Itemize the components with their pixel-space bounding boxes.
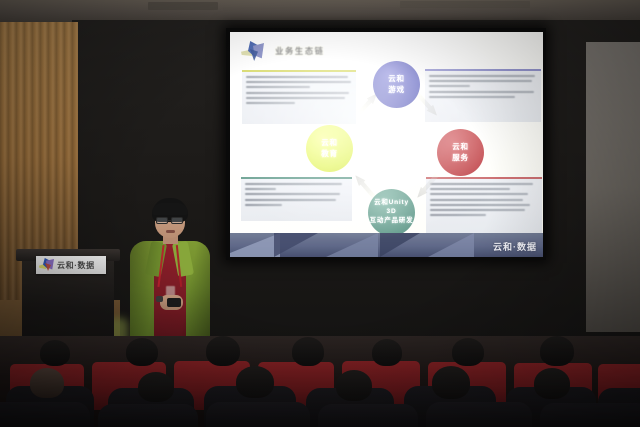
presentation-slide: 业务生态链 (230, 32, 543, 257)
text-box-top-right (425, 69, 541, 122)
audience-head (236, 366, 274, 398)
audience-head (452, 338, 484, 366)
ceiling-vent-secondary (400, 1, 530, 8)
audience-head (292, 337, 324, 366)
audience-shoulders (540, 403, 640, 427)
yunhe-butterfly-logo-icon (39, 258, 54, 272)
text-box-bottom-left (241, 177, 352, 221)
audience-head (432, 366, 470, 399)
glasses-bridge (167, 220, 172, 221)
audience-head (138, 372, 174, 402)
projection-screen: 业务生态链 (226, 28, 546, 260)
audience-head (534, 368, 570, 399)
audience-head (206, 336, 240, 366)
text-box-top-left (242, 70, 356, 124)
audience-floor (0, 336, 640, 427)
slide-watermark: 云和·数据 (493, 240, 537, 253)
audience-head (540, 336, 574, 366)
ceiling-vent (148, 2, 218, 10)
node-label-line1: 云和Unity 3D (368, 199, 415, 217)
node-label-line1: 云和 (388, 74, 405, 84)
audience-shoulders (206, 402, 310, 427)
audience-head (372, 339, 402, 366)
audience-shoulders (0, 402, 90, 427)
presentation-photo-scene: 业务生态链 (0, 0, 640, 427)
speaker-wristwatch (156, 296, 163, 302)
audience-head (126, 338, 158, 366)
node-label-line1: 云和 (452, 142, 469, 152)
node-label-line2: 服务 (452, 153, 469, 163)
audience-head (30, 368, 64, 398)
speaker-hair-fringe (152, 203, 188, 215)
node-label-line2: 教育 (321, 149, 338, 159)
node-label-line2: 游戏 (388, 85, 405, 95)
audience-shoulders (318, 404, 418, 427)
audience-head (336, 370, 372, 401)
podium-plate-text: 云和·数据 (57, 260, 95, 271)
diagram-node-education: 云和 教育 (306, 125, 353, 172)
glasses-lens-right (171, 217, 183, 224)
node-label-line1: 云和 (321, 138, 338, 148)
audience-shoulders (426, 402, 532, 427)
diagram-node-services: 云和 服务 (437, 129, 484, 176)
presenter-clicker (167, 298, 181, 307)
audience-shoulders (98, 404, 198, 427)
audience-head (40, 340, 70, 366)
diagram-node-games: 云和 游戏 (373, 61, 420, 108)
slide-header: 业务生态链 (240, 40, 325, 62)
speaker-mouth (166, 230, 175, 233)
diagram-node-unity3d: 云和Unity 3D 互动产品研发 (368, 189, 415, 236)
podium-name-plate: 云和·数据 (36, 256, 106, 274)
slide-title: 业务生态链 (275, 45, 325, 57)
yunhe-butterfly-logo-icon (240, 40, 266, 62)
node-label-line2: 互动产品研发 (370, 217, 414, 226)
right-wall-panel (586, 42, 640, 332)
text-box-bottom-right (426, 177, 542, 233)
